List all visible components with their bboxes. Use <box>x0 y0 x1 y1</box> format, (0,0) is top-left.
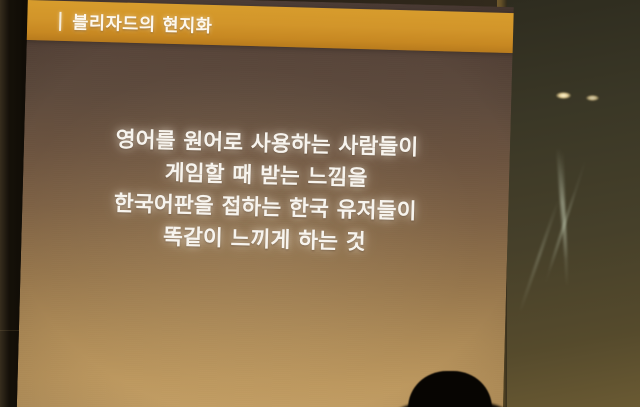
ceiling-light-icon <box>586 95 599 101</box>
projection-screen: 블리자드의 현지화 영어를 원어로 사용하는 사람들이 게임할 때 받는 느낌을… <box>17 0 514 407</box>
left-wall-sliver <box>0 0 9 407</box>
slide-body-text: 영어를 원어로 사용하는 사람들이 게임할 때 받는 느낌을 한국어판을 접하는… <box>21 122 510 263</box>
ceiling-light-icon <box>556 92 571 99</box>
slide-title: 블리자드의 현지화 <box>72 9 213 38</box>
presentation-photo: 블리자드의 현지화 영어를 원어로 사용하는 사람들이 게임할 때 받는 느낌을… <box>0 0 640 407</box>
vertical-tick-icon <box>59 11 62 30</box>
